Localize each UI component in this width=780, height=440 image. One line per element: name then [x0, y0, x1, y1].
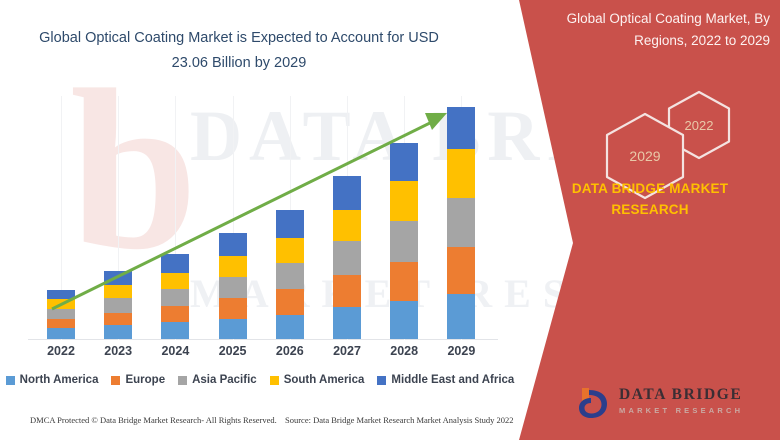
footer: DMCA Protected © Data Bridge Market Rese…	[0, 415, 520, 435]
brand-line-2: RESEARCH	[611, 202, 688, 217]
infographic-canvas: b DATA BRIDGE MARKET RESEARCH Global Opt…	[0, 0, 780, 440]
x-axis-label-2028: 2028	[382, 344, 426, 358]
bar-segment	[104, 285, 132, 298]
chart-area: Global Optical Coating Market is Expecte…	[0, 0, 520, 440]
footer-source-text: Source: Data Bridge Market Research Mark…	[285, 415, 514, 425]
bar-segment	[219, 298, 247, 318]
bar-segment	[390, 143, 418, 182]
bar-segment	[390, 262, 418, 302]
logo-line-2: MARKET RESEARCH	[619, 406, 743, 415]
bar-segment	[276, 315, 304, 339]
bar-segment	[333, 307, 361, 339]
bar-column-2027[interactable]	[333, 176, 361, 339]
legend-label: South America	[284, 374, 365, 386]
x-axis-label-2022: 2022	[39, 344, 83, 358]
bar-segment	[104, 313, 132, 325]
bar-segment	[390, 221, 418, 262]
bar-column-2022[interactable]	[47, 290, 75, 339]
bar-segment	[333, 275, 361, 308]
brand-panel-content: Global Optical Coating Market, By Region…	[520, 0, 780, 440]
bar-segment	[333, 210, 361, 242]
bar-column-2029[interactable]	[447, 107, 475, 339]
bar-segment	[390, 181, 418, 221]
bar-segment	[104, 325, 132, 339]
bar-segment	[161, 273, 189, 289]
bar-segment	[104, 271, 132, 285]
page-title: Global Optical Coating Market is Expecte…	[24, 26, 454, 76]
legend-swatch-icon	[111, 376, 120, 385]
bar-segment	[219, 256, 247, 277]
stacked-bar-plot	[28, 96, 498, 340]
legend-label: Europe	[125, 374, 165, 386]
logo-b-mark-icon	[575, 384, 613, 422]
bar-segment	[447, 149, 475, 198]
legend-label: Asia Pacific	[192, 374, 257, 386]
bar-segment	[219, 319, 247, 339]
bar-column-2026[interactable]	[276, 210, 304, 339]
bar-segment	[447, 294, 475, 339]
bar-column-2024[interactable]	[161, 254, 189, 339]
legend-swatch-icon	[377, 376, 386, 385]
bar-segment	[219, 277, 247, 298]
legend-label: North America	[20, 374, 99, 386]
x-axis-label-2027: 2027	[325, 344, 369, 358]
bar-segment	[219, 233, 247, 255]
bar-segment	[333, 176, 361, 210]
axis-baseline	[28, 339, 498, 340]
bar-segment	[161, 322, 189, 339]
legend-label: Middle East and Africa	[391, 374, 514, 386]
bar-column-2025[interactable]	[219, 233, 247, 339]
bar-segment	[47, 328, 75, 339]
x-axis-label-2029: 2029	[439, 344, 483, 358]
logo-text: DATA BRIDGE MARKET RESEARCH	[619, 386, 743, 415]
x-axis-labels: 20222023202420252026202720282029	[28, 344, 498, 364]
bar-segment	[276, 238, 304, 262]
legend-item-asia-pacific[interactable]: Asia Pacific	[178, 374, 257, 386]
bar-segment	[104, 298, 132, 312]
bar-segment	[161, 289, 189, 306]
bar-segment	[447, 107, 475, 149]
x-axis-label-2024: 2024	[153, 344, 197, 358]
bar-segment	[333, 241, 361, 275]
chart-legend: North AmericaEuropeAsia PacificSouth Ame…	[0, 374, 520, 386]
bar-segment	[47, 290, 75, 299]
bar-segment	[47, 319, 75, 328]
bar-segment	[447, 198, 475, 247]
bar-segment	[47, 309, 75, 319]
bar-segment	[161, 306, 189, 321]
x-axis-label-2023: 2023	[96, 344, 140, 358]
bar-segment	[161, 254, 189, 273]
bar-segment	[47, 299, 75, 308]
x-axis-label-2025: 2025	[211, 344, 255, 358]
bar-segment	[276, 289, 304, 314]
logo-line-1: DATA BRIDGE	[619, 386, 743, 404]
bar-segment	[276, 263, 304, 289]
footer-dmca-text: DMCA Protected © Data Bridge Market Rese…	[30, 415, 277, 425]
bar-segment	[390, 301, 418, 339]
legend-swatch-icon	[270, 376, 279, 385]
legend-item-europe[interactable]: Europe	[111, 374, 165, 386]
bar-column-2028[interactable]	[390, 143, 418, 339]
bar-segment	[447, 247, 475, 295]
legend-swatch-icon	[178, 376, 187, 385]
brand-line-1: DATA BRIDGE MARKET	[572, 181, 728, 196]
bar-column-2023[interactable]	[104, 271, 132, 339]
panel-title: Global Optical Coating Market, By Region…	[538, 8, 770, 52]
brand-name: DATA BRIDGE MARKET RESEARCH	[530, 178, 770, 220]
company-logo: DATA BRIDGE MARKET RESEARCH	[575, 382, 775, 424]
legend-item-south-america[interactable]: South America	[270, 374, 365, 386]
bar-segment	[276, 210, 304, 238]
legend-item-north-america[interactable]: North America	[6, 374, 99, 386]
legend-item-middle-east-and-africa[interactable]: Middle East and Africa	[377, 374, 514, 386]
x-axis-label-2026: 2026	[268, 344, 312, 358]
legend-swatch-icon	[6, 376, 15, 385]
